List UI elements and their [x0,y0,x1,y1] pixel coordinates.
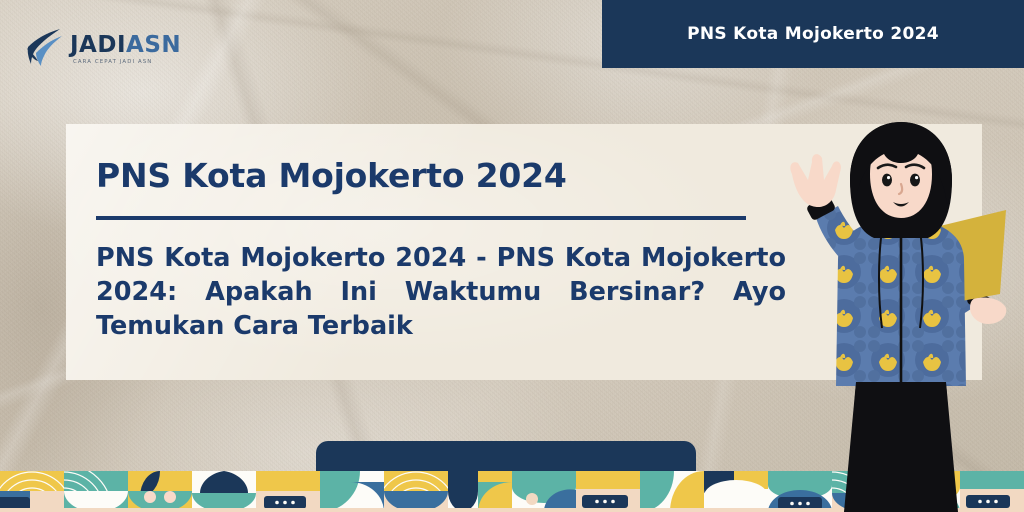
strip-tile [192,471,256,512]
strip-tile [576,471,640,512]
strip-tile [512,471,576,512]
card-inner: PNS Kota Mojokerto 2024 PNS Kota Mojoker… [96,158,796,344]
logo-word-asn: ASN [126,32,181,58]
page-title: PNS Kota Mojokerto 2024 [96,158,796,194]
logo-word-jadi: JADI [70,32,126,58]
brand-logo[interactable]: JADIASN CARA CEPAT JADI ASN [26,28,186,70]
strip-tile [640,471,704,512]
strip-tile [128,471,192,512]
strip-tile [0,471,64,512]
banner-stage: PNS Kota Mojokerto 2024 JADIASN CARA CEP… [0,0,1024,512]
strip-tile [704,471,768,512]
header-title: PNS Kota Mojokerto 2024 [687,24,939,44]
card-body-text: PNS Kota Mojokerto 2024 - PNS Kota Mojok… [96,242,786,344]
skirt-overlay [778,118,1024,512]
strip-tile [320,471,384,512]
strip-tile [448,471,512,512]
strip-tile [384,471,448,512]
swoosh-bird-mark-icon [26,28,68,68]
strip-tile [256,471,320,512]
header-bar: PNS Kota Mojokerto 2024 [602,0,1024,68]
logo-tagline: CARA CEPAT JADI ASN [73,59,152,65]
title-divider [96,216,746,220]
logo-wordmark: JADIASN [70,34,181,57]
strip-tile [64,471,128,512]
